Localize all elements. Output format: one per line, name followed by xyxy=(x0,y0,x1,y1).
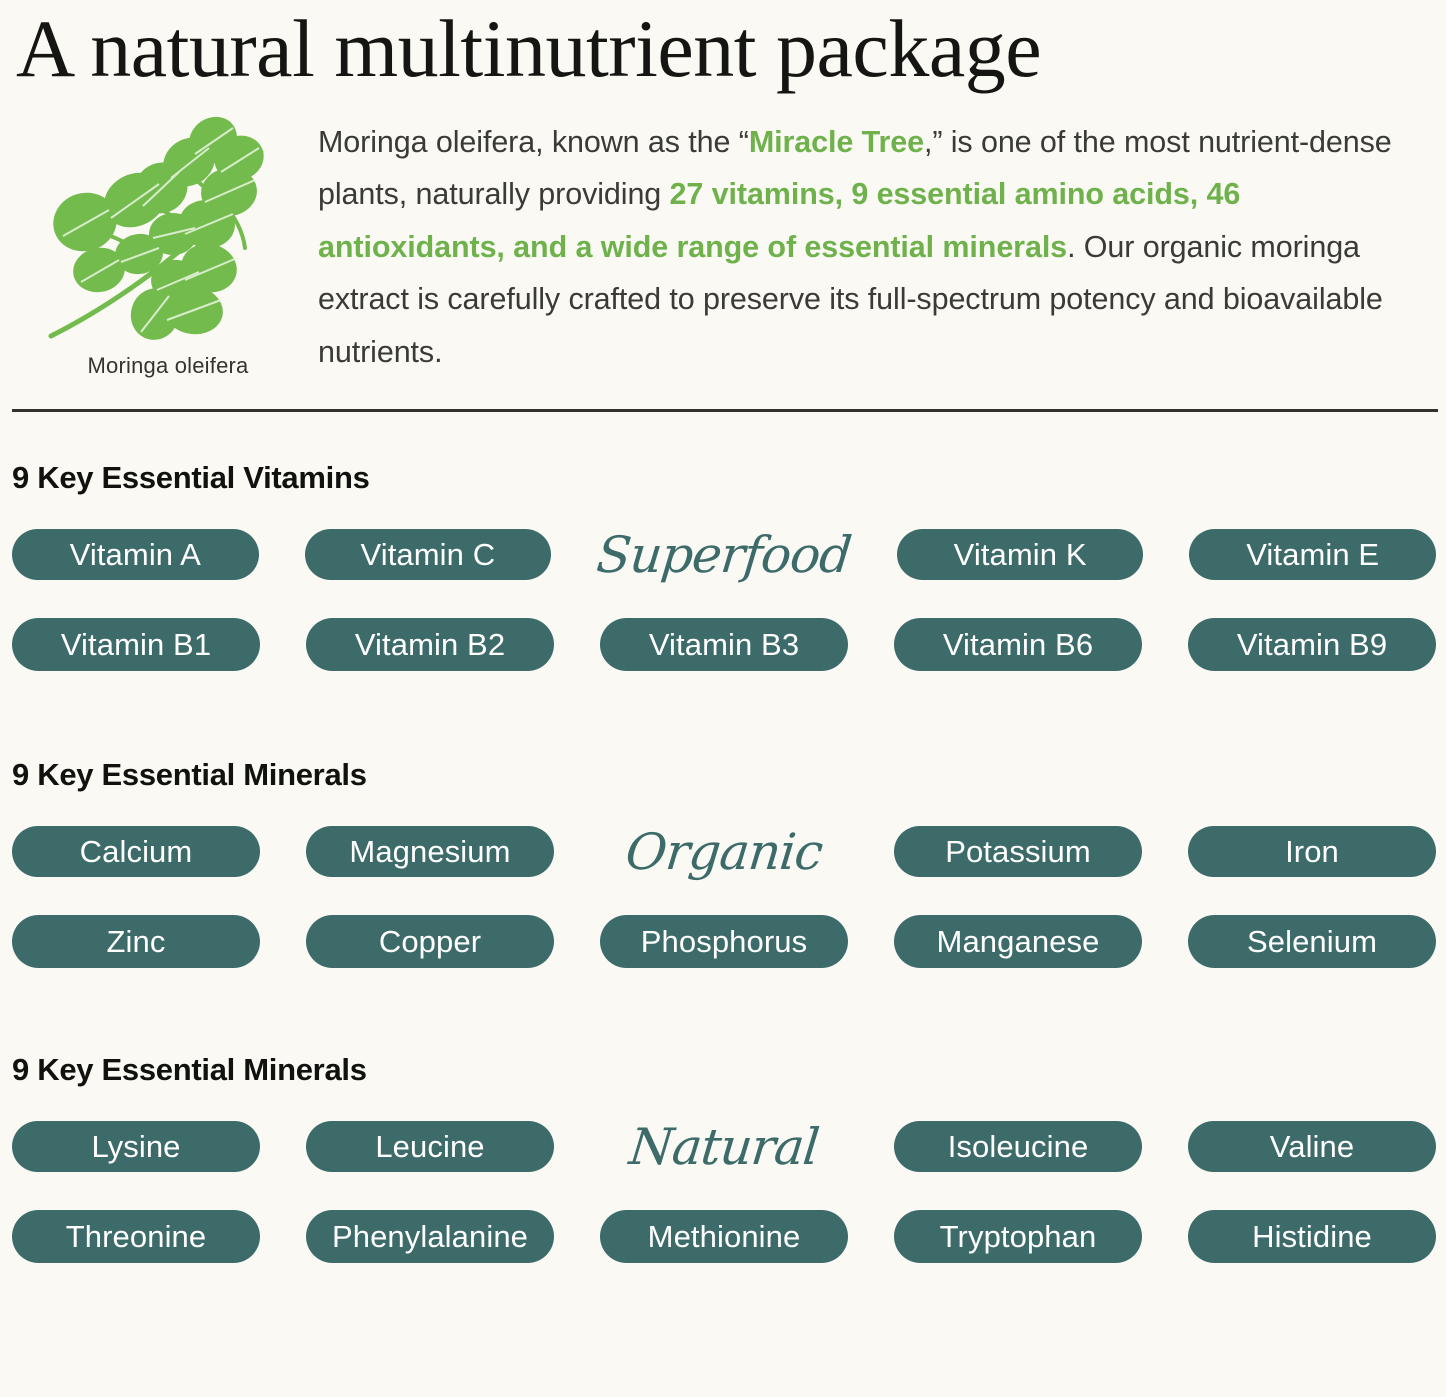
pill-row-vitamins-1: Vitamin A Vitamin C Superfood Vitamin K … xyxy=(12,529,1436,580)
pill-row-amino-1: Lysine Leucine Natural Isoleucine Valine xyxy=(12,1121,1436,1172)
pill-isoleucine[interactable]: Isoleucine xyxy=(894,1121,1142,1172)
pill-methionine[interactable]: Methionine xyxy=(600,1210,848,1263)
intro-paragraph: Moringa oleifera, known as the “Miracle … xyxy=(318,112,1436,378)
pill-potassium[interactable]: Potassium xyxy=(894,826,1142,877)
pill-vitamin-c[interactable]: Vitamin C xyxy=(305,529,552,580)
plant-caption: Moringa oleifera xyxy=(88,353,249,379)
section-heading-vitamins: 9 Key Essential Vitamins xyxy=(12,460,1436,496)
pill-row-vitamins-2: Vitamin B1 Vitamin B2 Vitamin B3 Vitamin… xyxy=(12,618,1436,671)
pill-valine[interactable]: Valine xyxy=(1188,1121,1436,1172)
page-title: A natural multinutrient package xyxy=(0,0,1446,90)
intro-block: Moringa oleifera Moringa oleifera, known… xyxy=(0,90,1446,379)
pill-vitamin-b3[interactable]: Vitamin B3 xyxy=(600,618,848,671)
pill-vitamin-a[interactable]: Vitamin A xyxy=(12,529,259,580)
pill-vitamin-e[interactable]: Vitamin E xyxy=(1189,529,1436,580)
section-vitamins: 9 Key Essential Vitamins Vitamin A Vitam… xyxy=(0,460,1446,671)
section-heading-minerals: 9 Key Essential Minerals xyxy=(12,757,1436,793)
pill-row-amino-2: Threonine Phenylalanine Methionine Trypt… xyxy=(12,1210,1436,1263)
pill-calcium[interactable]: Calcium xyxy=(12,826,260,877)
section-minerals: 9 Key Essential Minerals Calcium Magnesi… xyxy=(0,757,1446,968)
pill-tryptophan[interactable]: Tryptophan xyxy=(894,1210,1142,1263)
pill-zinc[interactable]: Zinc xyxy=(12,915,260,968)
script-word-organic: Organic xyxy=(597,827,850,877)
pill-leucine[interactable]: Leucine xyxy=(306,1121,554,1172)
section-divider xyxy=(12,409,1438,412)
pill-phosphorus[interactable]: Phosphorus xyxy=(600,915,848,968)
pill-magnesium[interactable]: Magnesium xyxy=(306,826,554,877)
moringa-leaf-branch-icon xyxy=(43,114,293,349)
pill-vitamin-b1[interactable]: Vitamin B1 xyxy=(12,618,260,671)
section-heading-amino-acids: 9 Key Essential Minerals xyxy=(12,1052,1436,1088)
intro-highlight-miracle-tree: Miracle Tree xyxy=(749,125,924,159)
pill-iron[interactable]: Iron xyxy=(1188,826,1436,877)
pill-phenylalanine[interactable]: Phenylalanine xyxy=(306,1210,554,1263)
pill-threonine[interactable]: Threonine xyxy=(12,1210,260,1263)
pill-vitamin-b9[interactable]: Vitamin B9 xyxy=(1188,618,1436,671)
pill-selenium[interactable]: Selenium xyxy=(1188,915,1436,968)
pill-vitamin-b6[interactable]: Vitamin B6 xyxy=(894,618,1142,671)
plant-figure: Moringa oleifera xyxy=(18,112,318,379)
section-amino-acids: 9 Key Essential Minerals Lysine Leucine … xyxy=(0,1052,1446,1263)
pill-manganese[interactable]: Manganese xyxy=(894,915,1142,968)
pill-row-minerals-2: Zinc Copper Phosphorus Manganese Seleniu… xyxy=(12,915,1436,968)
script-word-superfood: Superfood xyxy=(595,530,854,580)
pill-lysine[interactable]: Lysine xyxy=(12,1121,260,1172)
pill-vitamin-b2[interactable]: Vitamin B2 xyxy=(306,618,554,671)
pill-vitamin-k[interactable]: Vitamin K xyxy=(897,529,1144,580)
intro-text-part-1: Moringa oleifera, known as the “ xyxy=(318,125,749,159)
pill-copper[interactable]: Copper xyxy=(306,915,554,968)
script-word-natural: Natural xyxy=(597,1122,850,1172)
pill-row-minerals-1: Calcium Magnesium Organic Potassium Iron xyxy=(12,826,1436,877)
pill-histidine[interactable]: Histidine xyxy=(1188,1210,1436,1263)
